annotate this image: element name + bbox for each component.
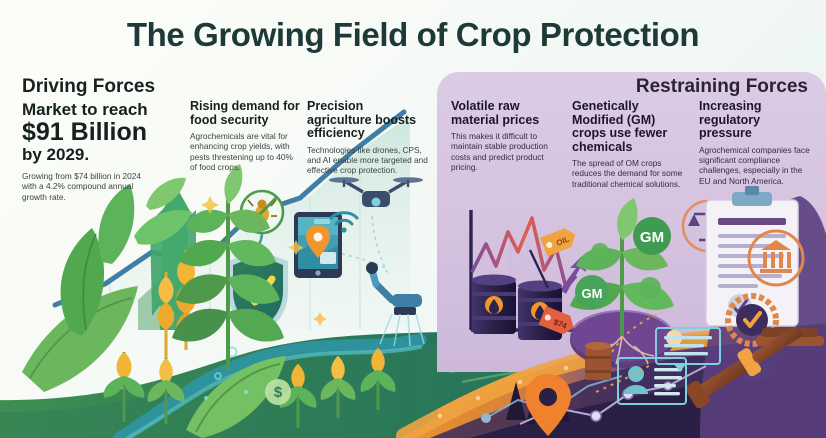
wheat-stalks xyxy=(158,250,196,358)
infographic-canvas: $ xyxy=(0,0,826,438)
sprayer-robot-icon xyxy=(366,262,422,315)
location-pin-icon xyxy=(525,374,571,436)
food-security-heading: Rising demand for food security xyxy=(190,100,302,127)
column-food-security: Rising demand for food security Agrochem… xyxy=(190,100,302,173)
shield-check-icon xyxy=(228,250,288,336)
column-market-growth: Market to reach $91 Billion by 2029. Gro… xyxy=(22,100,182,202)
central-plant-illustration xyxy=(172,164,284,370)
crop-row-illustration xyxy=(104,348,396,438)
market-body: Growing from $74 billion in 2024 with a … xyxy=(22,171,142,202)
gm-crops-body: The spread of OM crops reduces the deman… xyxy=(572,158,684,189)
regulatory-pressure-body: Agrochemical companies face significant … xyxy=(699,145,814,187)
no-pest-icon xyxy=(241,191,283,233)
food-security-body: Agrochemicals are vital for enhancing cr… xyxy=(190,131,302,173)
svg-text:$: $ xyxy=(274,384,283,401)
gm-crops-heading: Genetically Modified (GM) crops use fewe… xyxy=(572,100,684,154)
regulatory-pressure-heading: Increasing regulatory pressure xyxy=(699,100,814,141)
precision-agriculture-heading: Precision agriculture boosts efficiency xyxy=(307,100,429,141)
page-title: The Growing Field of Crop Protection xyxy=(0,16,826,54)
column-volatile-prices: Volatile raw material prices This makes … xyxy=(451,100,563,173)
market-line-1: Market to reach xyxy=(22,100,182,119)
drone-icon xyxy=(329,177,423,207)
market-line-2: $91 Billion xyxy=(22,119,182,145)
tablet-gps-icon xyxy=(294,212,342,278)
market-line-3: by 2029. xyxy=(22,145,182,164)
volatile-prices-heading: Volatile raw material prices xyxy=(451,100,563,127)
money-coin-icon: $ xyxy=(265,379,291,405)
column-gm-crops: Genetically Modified (GM) crops use fewe… xyxy=(572,100,684,189)
driving-forces-heading: Driving Forces xyxy=(22,76,155,98)
location-pin-foreground xyxy=(525,374,571,436)
restraining-forces-heading: Restraining Forces xyxy=(636,76,808,98)
wifi-icon xyxy=(331,213,357,233)
volatile-prices-body: This makes it difficult to maintain stab… xyxy=(451,131,563,173)
crop-leaves-illustration xyxy=(22,178,192,392)
precision-agriculture-body: Technologies like drones, CPS, and AI en… xyxy=(307,145,429,176)
column-precision-agriculture: Precision agriculture boosts efficiency … xyxy=(307,100,429,176)
column-regulatory-pressure: Increasing regulatory pressure Agrochemi… xyxy=(699,100,814,186)
